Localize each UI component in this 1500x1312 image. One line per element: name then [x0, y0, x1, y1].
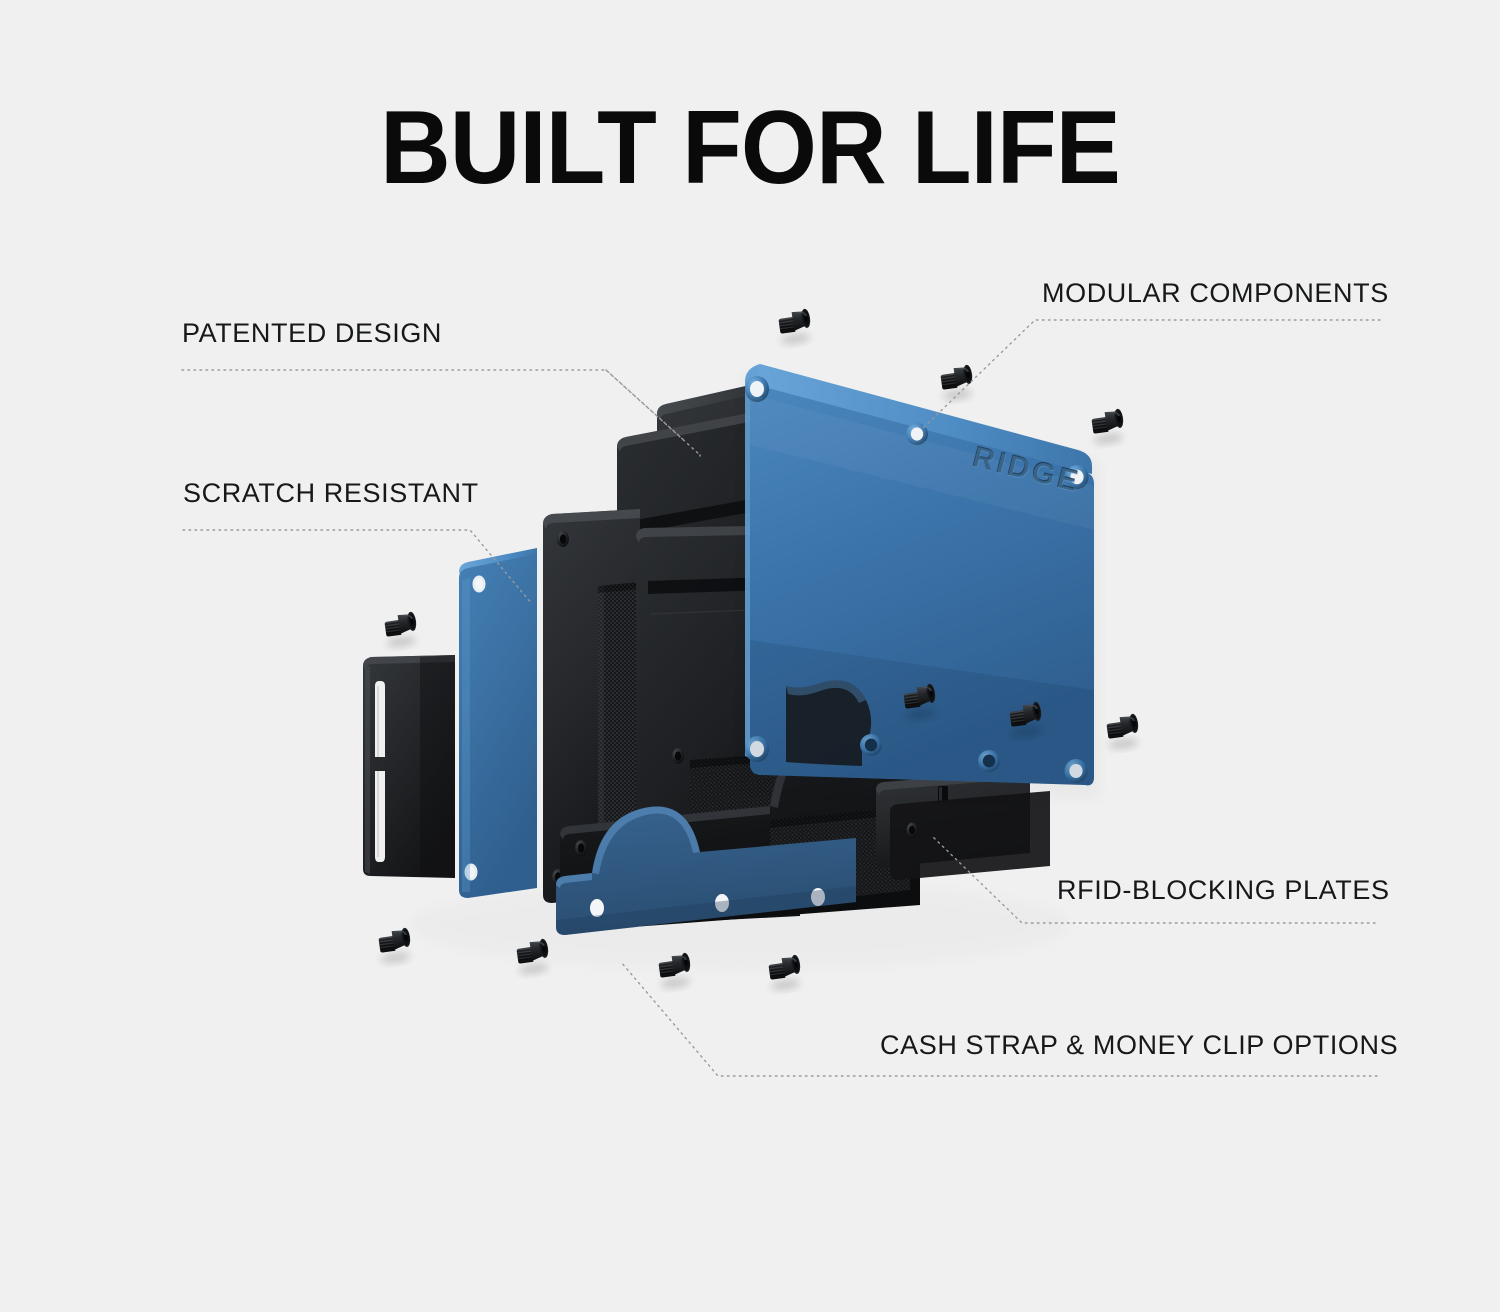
screw	[939, 364, 976, 402]
exploded-wallet-illustration: RIDGE RIDGE	[0, 0, 1500, 1312]
screw	[1105, 713, 1142, 751]
wallet-plate-blue-rear	[459, 548, 537, 898]
callout-label-rfid-blocking-plates: RFID-BLOCKING PLATES	[1057, 875, 1390, 906]
wallet-money-clip	[363, 655, 455, 878]
callout-label-scratch-resistant: SCRATCH RESISTANT	[183, 478, 479, 509]
screw	[377, 927, 414, 965]
screw	[1090, 408, 1127, 446]
wallet-plate-blue-main: RIDGE RIDGE	[742, 364, 1100, 800]
screw	[383, 611, 420, 649]
callout-label-cash-strap-money-clip: CASH STRAP & MONEY CLIP OPTIONS	[880, 1030, 1398, 1061]
screw	[777, 308, 814, 346]
product-feature-banner: BUILT FOR LIFE	[0, 0, 1500, 1312]
leader-modular-components	[921, 320, 1380, 430]
callout-label-modular-components: MODULAR COMPONENTS	[1042, 278, 1389, 309]
callout-label-patented-design: PATENTED DESIGN	[182, 318, 442, 349]
